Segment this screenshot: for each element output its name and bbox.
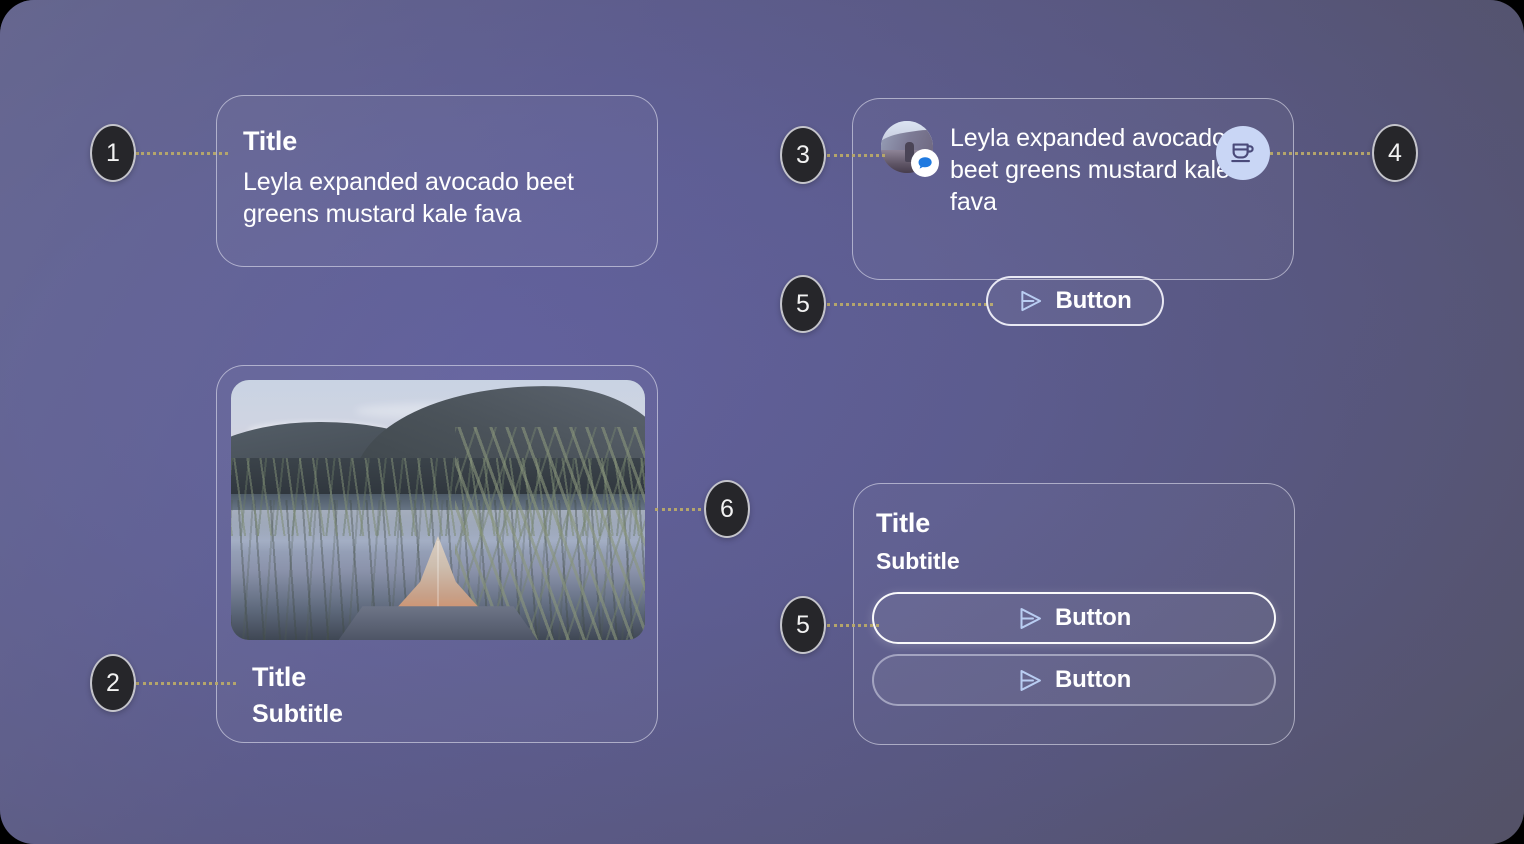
button-label: Button	[1055, 287, 1131, 315]
media-card-subtitle: Subtitle	[252, 700, 643, 729]
kayak-lake-photo[interactable]	[231, 380, 645, 640]
card-body-text: Leyla expanded avocado beet greens musta…	[243, 166, 627, 230]
button-stack: Button Button	[854, 592, 1294, 706]
send-icon	[1018, 288, 1044, 314]
card-list-item[interactable]: Leyla expanded avocado beet greens musta…	[852, 98, 1294, 280]
callout-label: 5	[796, 290, 810, 319]
button-label: Button	[1055, 666, 1131, 694]
callout-label: 3	[796, 141, 810, 170]
leader-line-5b	[827, 624, 879, 627]
leader-line-6	[655, 508, 707, 511]
send-button-secondary[interactable]: Button	[872, 654, 1276, 706]
send-button-card-list[interactable]: Button	[986, 276, 1164, 326]
callout-label: 1	[106, 139, 120, 168]
card-actions[interactable]: Title Subtitle Button Button	[853, 483, 1295, 745]
callout-badge-1: 1	[90, 124, 136, 182]
card-media[interactable]: Title Subtitle	[216, 365, 658, 743]
leader-line-2	[136, 682, 236, 685]
card-title: Title	[243, 126, 627, 157]
leader-line-4	[1270, 152, 1370, 155]
button-label: Button	[1055, 604, 1131, 632]
design-canvas: Title Leyla expanded avocado beet greens…	[0, 0, 1524, 844]
callout-badge-5b: 5	[780, 596, 826, 654]
callout-label: 5	[796, 611, 810, 640]
actions-card-title: Title	[876, 508, 1294, 539]
send-icon	[1017, 667, 1044, 694]
leader-line-5a	[827, 303, 993, 306]
callout-badge-6: 6	[704, 480, 750, 538]
leader-line-1	[136, 152, 228, 155]
chat-bubble-icon	[911, 149, 939, 177]
send-button-primary[interactable]: Button	[872, 592, 1276, 644]
callout-badge-2: 2	[90, 654, 136, 712]
leader-line-3	[827, 154, 885, 157]
avatar[interactable]	[881, 121, 933, 173]
actions-card-subtitle: Subtitle	[876, 548, 1294, 575]
callout-label: 2	[106, 669, 120, 698]
coffee-cup-icon[interactable]	[1216, 126, 1270, 180]
callout-badge-4: 4	[1372, 124, 1418, 182]
send-icon	[1017, 605, 1044, 632]
card-title-body[interactable]: Title Leyla expanded avocado beet greens…	[216, 95, 658, 267]
callout-label: 4	[1388, 139, 1402, 168]
media-card-title: Title	[252, 662, 643, 693]
callout-badge-5a: 5	[780, 275, 826, 333]
callout-badge-3: 3	[780, 126, 826, 184]
callout-label: 6	[720, 495, 734, 524]
